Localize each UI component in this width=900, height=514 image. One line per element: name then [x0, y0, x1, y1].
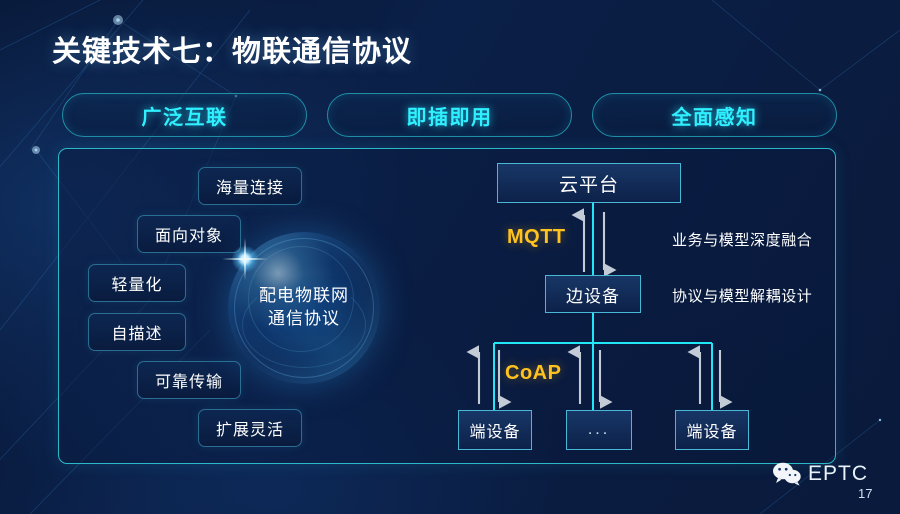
protocol-label-coap: CoAP — [505, 362, 561, 385]
page-number: 17 — [858, 486, 872, 501]
feature-tag-label: 自描述 — [111, 320, 162, 344]
protocol-sphere: 配电物联网 通信协议 — [228, 232, 380, 384]
node-edge-device[interactable]: 边设备 — [545, 275, 641, 313]
watermark: EPTC — [772, 462, 868, 486]
note-protocol-model-decoupling: 协议与模型解耦设计 — [672, 285, 812, 306]
feature-tag-label: 海量连接 — [216, 174, 284, 198]
node-terminal-device-right[interactable]: 端设备 — [675, 410, 749, 450]
feature-tag-zimiaoshu[interactable]: 自描述 — [88, 313, 186, 351]
wechat-icon — [772, 462, 802, 486]
protocol-label-mqtt: MQTT — [507, 226, 566, 249]
pill-quanmian-ganzhi[interactable]: 全面感知 — [592, 93, 837, 137]
pill-label: 广泛互联 — [142, 101, 228, 130]
feature-tag-kuozhan-linghuo[interactable]: 扩展灵活 — [198, 409, 302, 447]
node-terminal-device-ellipsis[interactable]: ... — [566, 410, 632, 450]
pill-label: 即插即用 — [407, 101, 493, 130]
feature-tag-label: 扩展灵活 — [216, 416, 284, 440]
pill-guangfan-hulian[interactable]: 广泛互联 — [62, 93, 307, 137]
node-label: 云平台 — [559, 170, 619, 197]
sphere-label-line2: 通信协议 — [268, 308, 340, 331]
note-business-model-fusion: 业务与模型深度融合 — [672, 229, 812, 250]
feature-tag-kekao-chuanshu[interactable]: 可靠传输 — [137, 361, 241, 399]
node-terminal-device-left[interactable]: 端设备 — [458, 410, 532, 450]
sphere-label: 配电物联网 通信协议 — [228, 232, 380, 384]
feature-tag-qingliang-hua[interactable]: 轻量化 — [88, 264, 186, 302]
feature-tag-label: 可靠传输 — [155, 368, 223, 392]
feature-tag-label: 面向对象 — [155, 222, 223, 246]
page-title: 关键技术七：物联通信协议 — [52, 28, 412, 70]
sphere-label-line1: 配电物联网 — [259, 285, 349, 308]
pill-label: 全面感知 — [672, 101, 758, 130]
node-label: 端设备 — [686, 418, 737, 442]
node-cloud-platform[interactable]: 云平台 — [497, 163, 681, 203]
slide-canvas: 关键技术七：物联通信协议 广泛互联 即插即用 全面感知 海量连接 面向对象 轻量… — [0, 0, 900, 514]
feature-tag-mianxiang-duixiang[interactable]: 面向对象 — [137, 215, 241, 253]
node-label: 边设备 — [566, 282, 620, 307]
feature-tag-hailiang-lianjie[interactable]: 海量连接 — [198, 167, 302, 205]
feature-tag-label: 轻量化 — [111, 271, 162, 295]
node-label: 端设备 — [469, 418, 520, 442]
pill-jicha-jiyong[interactable]: 即插即用 — [327, 93, 572, 137]
node-label: ... — [588, 421, 610, 439]
watermark-brand: EPTC — [808, 462, 868, 486]
